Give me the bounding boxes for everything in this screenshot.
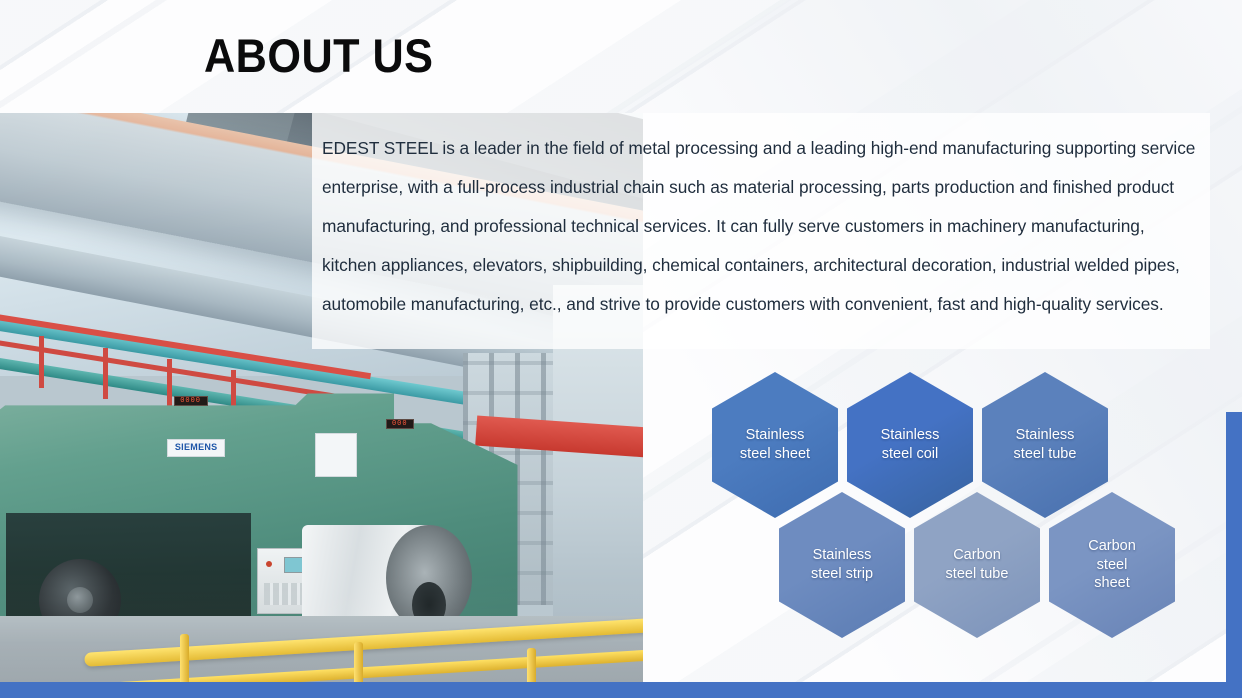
hexagon-label-line: steel bbox=[1088, 556, 1136, 575]
photo-control-panel-button-1 bbox=[266, 561, 272, 567]
hexagon-label: Carbonsteel tube bbox=[946, 546, 1009, 584]
hexagon-stainless-steel-strip[interactable]: Stainlesssteel strip bbox=[779, 492, 905, 638]
hexagon-label: Carbonsteelsheet bbox=[1088, 537, 1136, 594]
slide-canvas: SIEMENS 0000 000 ABOUT US EDEST STEEL is… bbox=[0, 0, 1242, 698]
photo-yellow-rail-post-1 bbox=[180, 634, 189, 685]
hexagon-stainless-steel-sheet[interactable]: Stainlesssteel sheet bbox=[712, 372, 838, 518]
hexagon-carbon-steel-sheet[interactable]: Carbonsteelsheet bbox=[1049, 492, 1175, 638]
hexagon-carbon-steel-tube[interactable]: Carbonsteel tube bbox=[914, 492, 1040, 638]
photo-manufacturer-plate bbox=[315, 433, 357, 477]
right-accent-bar bbox=[1226, 412, 1242, 683]
hexagon-label-line: steel strip bbox=[811, 565, 873, 584]
photo-red-post-2 bbox=[103, 348, 108, 399]
photo-yellow-rail-post-2 bbox=[354, 642, 363, 685]
hexagon-stainless-steel-coil[interactable]: Stainlesssteel coil bbox=[847, 372, 973, 518]
hexagon-label: Stainlesssteel tube bbox=[1014, 426, 1077, 464]
photo-siemens-label: SIEMENS bbox=[167, 439, 225, 457]
hexagon-label-line: Carbon bbox=[1088, 537, 1136, 556]
bottom-accent-bar bbox=[0, 682, 1242, 698]
photo-led-readout-2: 000 bbox=[386, 419, 414, 429]
hexagon-label-line: steel coil bbox=[881, 445, 940, 464]
hexagon-label-line: steel tube bbox=[1014, 445, 1077, 464]
hexagon-label: Stainlesssteel strip bbox=[811, 546, 873, 584]
hexagon-label-line: Carbon bbox=[946, 546, 1009, 565]
about-text-panel: EDEST STEEL is a leader in the field of … bbox=[312, 113, 1210, 349]
about-paragraph: EDEST STEEL is a leader in the field of … bbox=[322, 129, 1200, 324]
photo-led-readout-1: 0000 bbox=[174, 396, 208, 406]
hexagon-label: Stainlesssteel coil bbox=[881, 426, 940, 464]
photo-mill-roller-hub bbox=[67, 587, 93, 613]
photo-yellow-rail-post-3 bbox=[527, 648, 536, 685]
product-hexagon-cluster: Stainlesssteel sheet Stainlesssteel coil… bbox=[712, 372, 1212, 638]
hexagon-label-line: Stainless bbox=[740, 426, 810, 445]
page-title: ABOUT US bbox=[204, 32, 433, 79]
hexagon-stainless-steel-tube[interactable]: Stainlesssteel tube bbox=[982, 372, 1108, 518]
hexagon-label-line: Stainless bbox=[811, 546, 873, 565]
photo-red-post-1 bbox=[39, 336, 44, 387]
hexagon-label-line: Stainless bbox=[1014, 426, 1077, 445]
photo-red-post-3 bbox=[167, 359, 172, 410]
hexagon-label-line: sheet bbox=[1088, 574, 1136, 593]
hexagon-label-line: steel tube bbox=[946, 565, 1009, 584]
hexagon-label-line: steel sheet bbox=[740, 445, 810, 464]
hexagon-label-line: Stainless bbox=[881, 426, 940, 445]
hexagon-label: Stainlesssteel sheet bbox=[740, 426, 810, 464]
